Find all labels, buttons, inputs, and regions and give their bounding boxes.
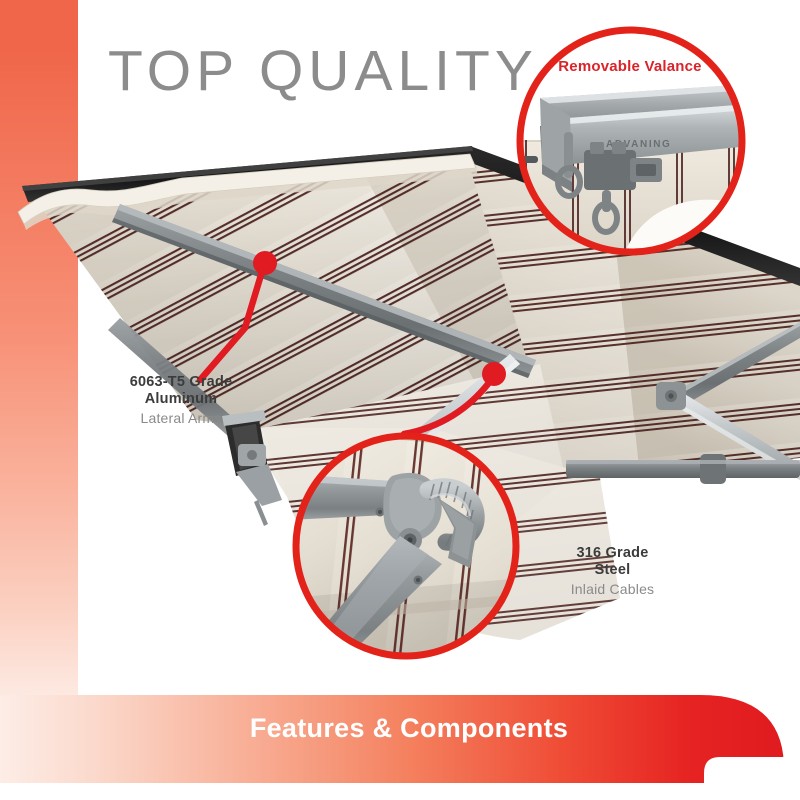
detail-label-valance: Removable Valance — [530, 58, 730, 75]
arm-elbow-right — [656, 382, 686, 410]
arm-joint-left — [238, 444, 266, 466]
callout-steel-title2: Steel — [520, 562, 705, 579]
callout-aluminum-title2: Aluminum — [86, 391, 276, 408]
callout-steel: 316 Grade Steel Inlaid Cables — [520, 545, 705, 597]
callout-steel-title: 316 Grade — [520, 545, 705, 562]
joint-detail-art — [288, 428, 524, 664]
infographic-page: ADVANING — [0, 0, 800, 800]
callout-aluminum: 6063-T5 Grade Aluminum Lateral Arms — [86, 374, 276, 426]
callout-aluminum-title: 6063-T5 Grade — [86, 374, 276, 391]
callout-steel-subtitle: Inlaid Cables — [520, 581, 705, 597]
detail-circle-joint — [288, 428, 524, 664]
callout-aluminum-subtitle: Lateral Arms — [86, 410, 276, 426]
banner-title: Features & Components — [0, 713, 800, 744]
page-title: TOP QUALITY — [108, 38, 538, 104]
